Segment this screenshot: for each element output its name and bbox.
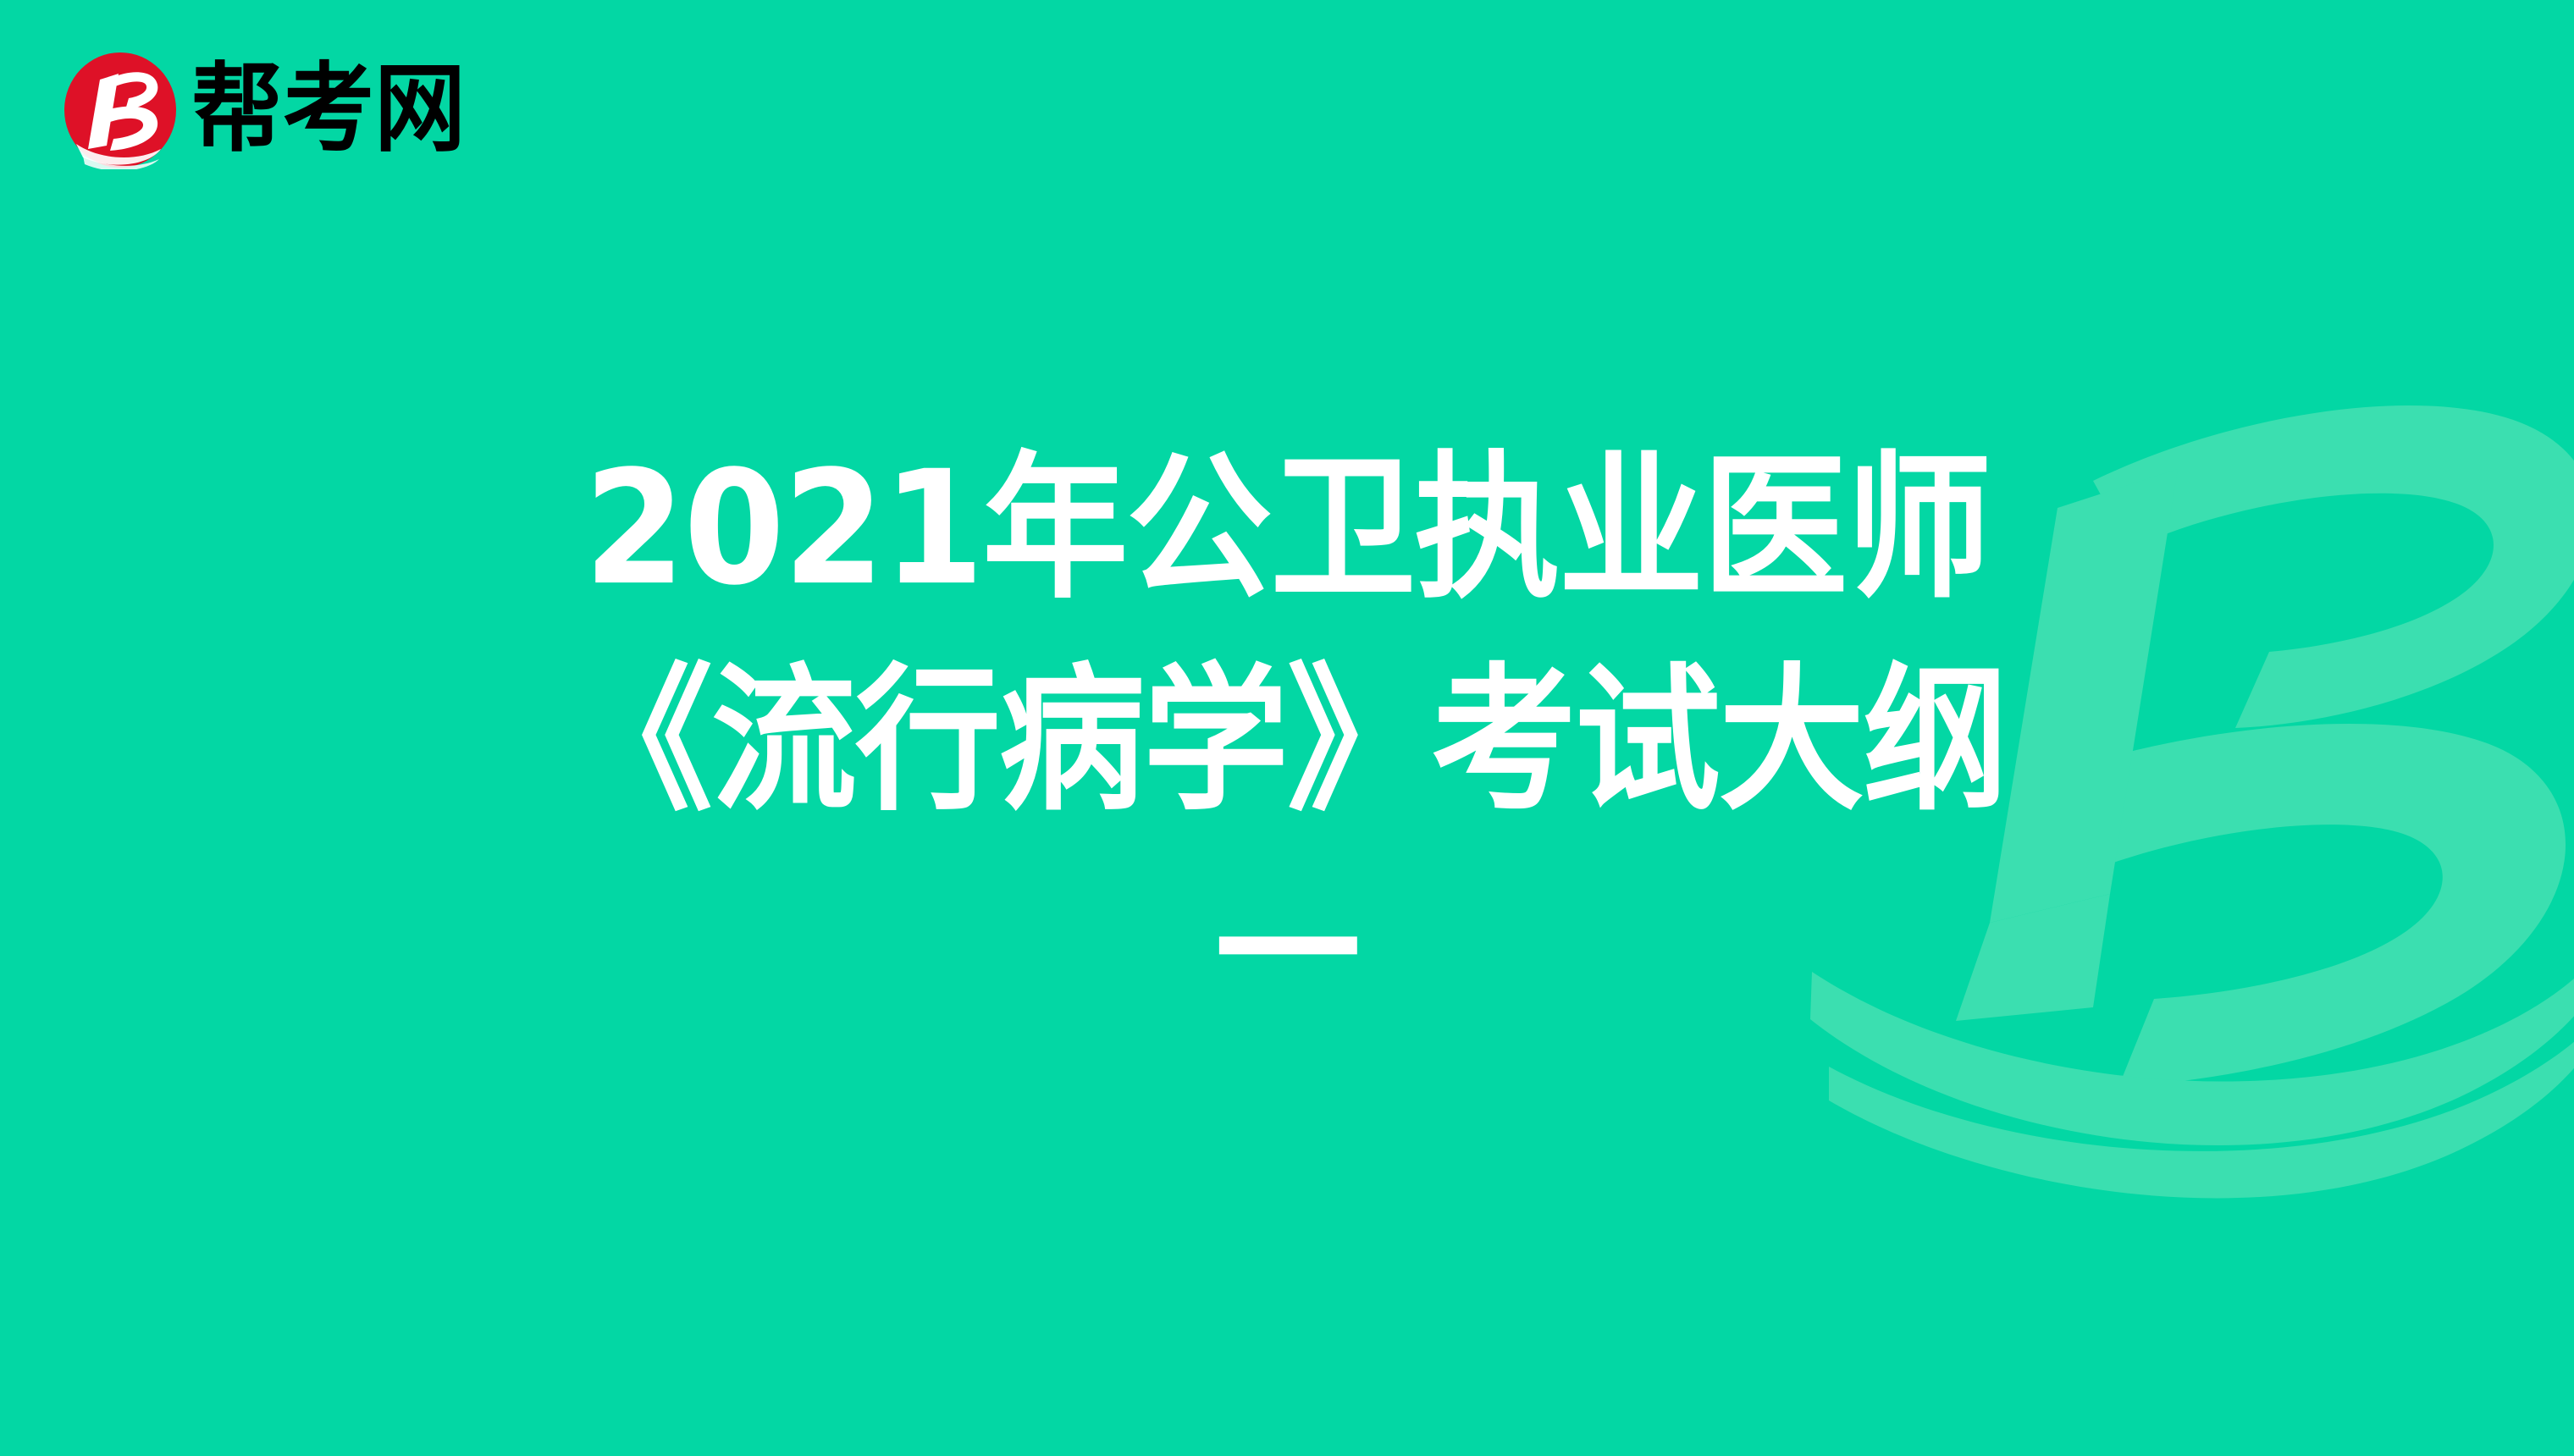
title-block: 2021年公卫执业医师《流行病学》考试大纲一 [0,0,2574,1456]
slide-canvas: 帮考网 2021年公卫执业医师《流行病学》考试大纲一 [0,0,2574,1456]
page-title: 2021年公卫执业医师《流行病学》考试大纲一 [525,422,2049,1059]
brand-wordmark: 帮考网 [191,62,466,158]
letter-b-swoosh-watermark [1795,254,2574,1202]
bangkao-b-circle-logo-icon [63,51,178,169]
brand-logo[interactable]: 帮考网 [63,49,466,171]
